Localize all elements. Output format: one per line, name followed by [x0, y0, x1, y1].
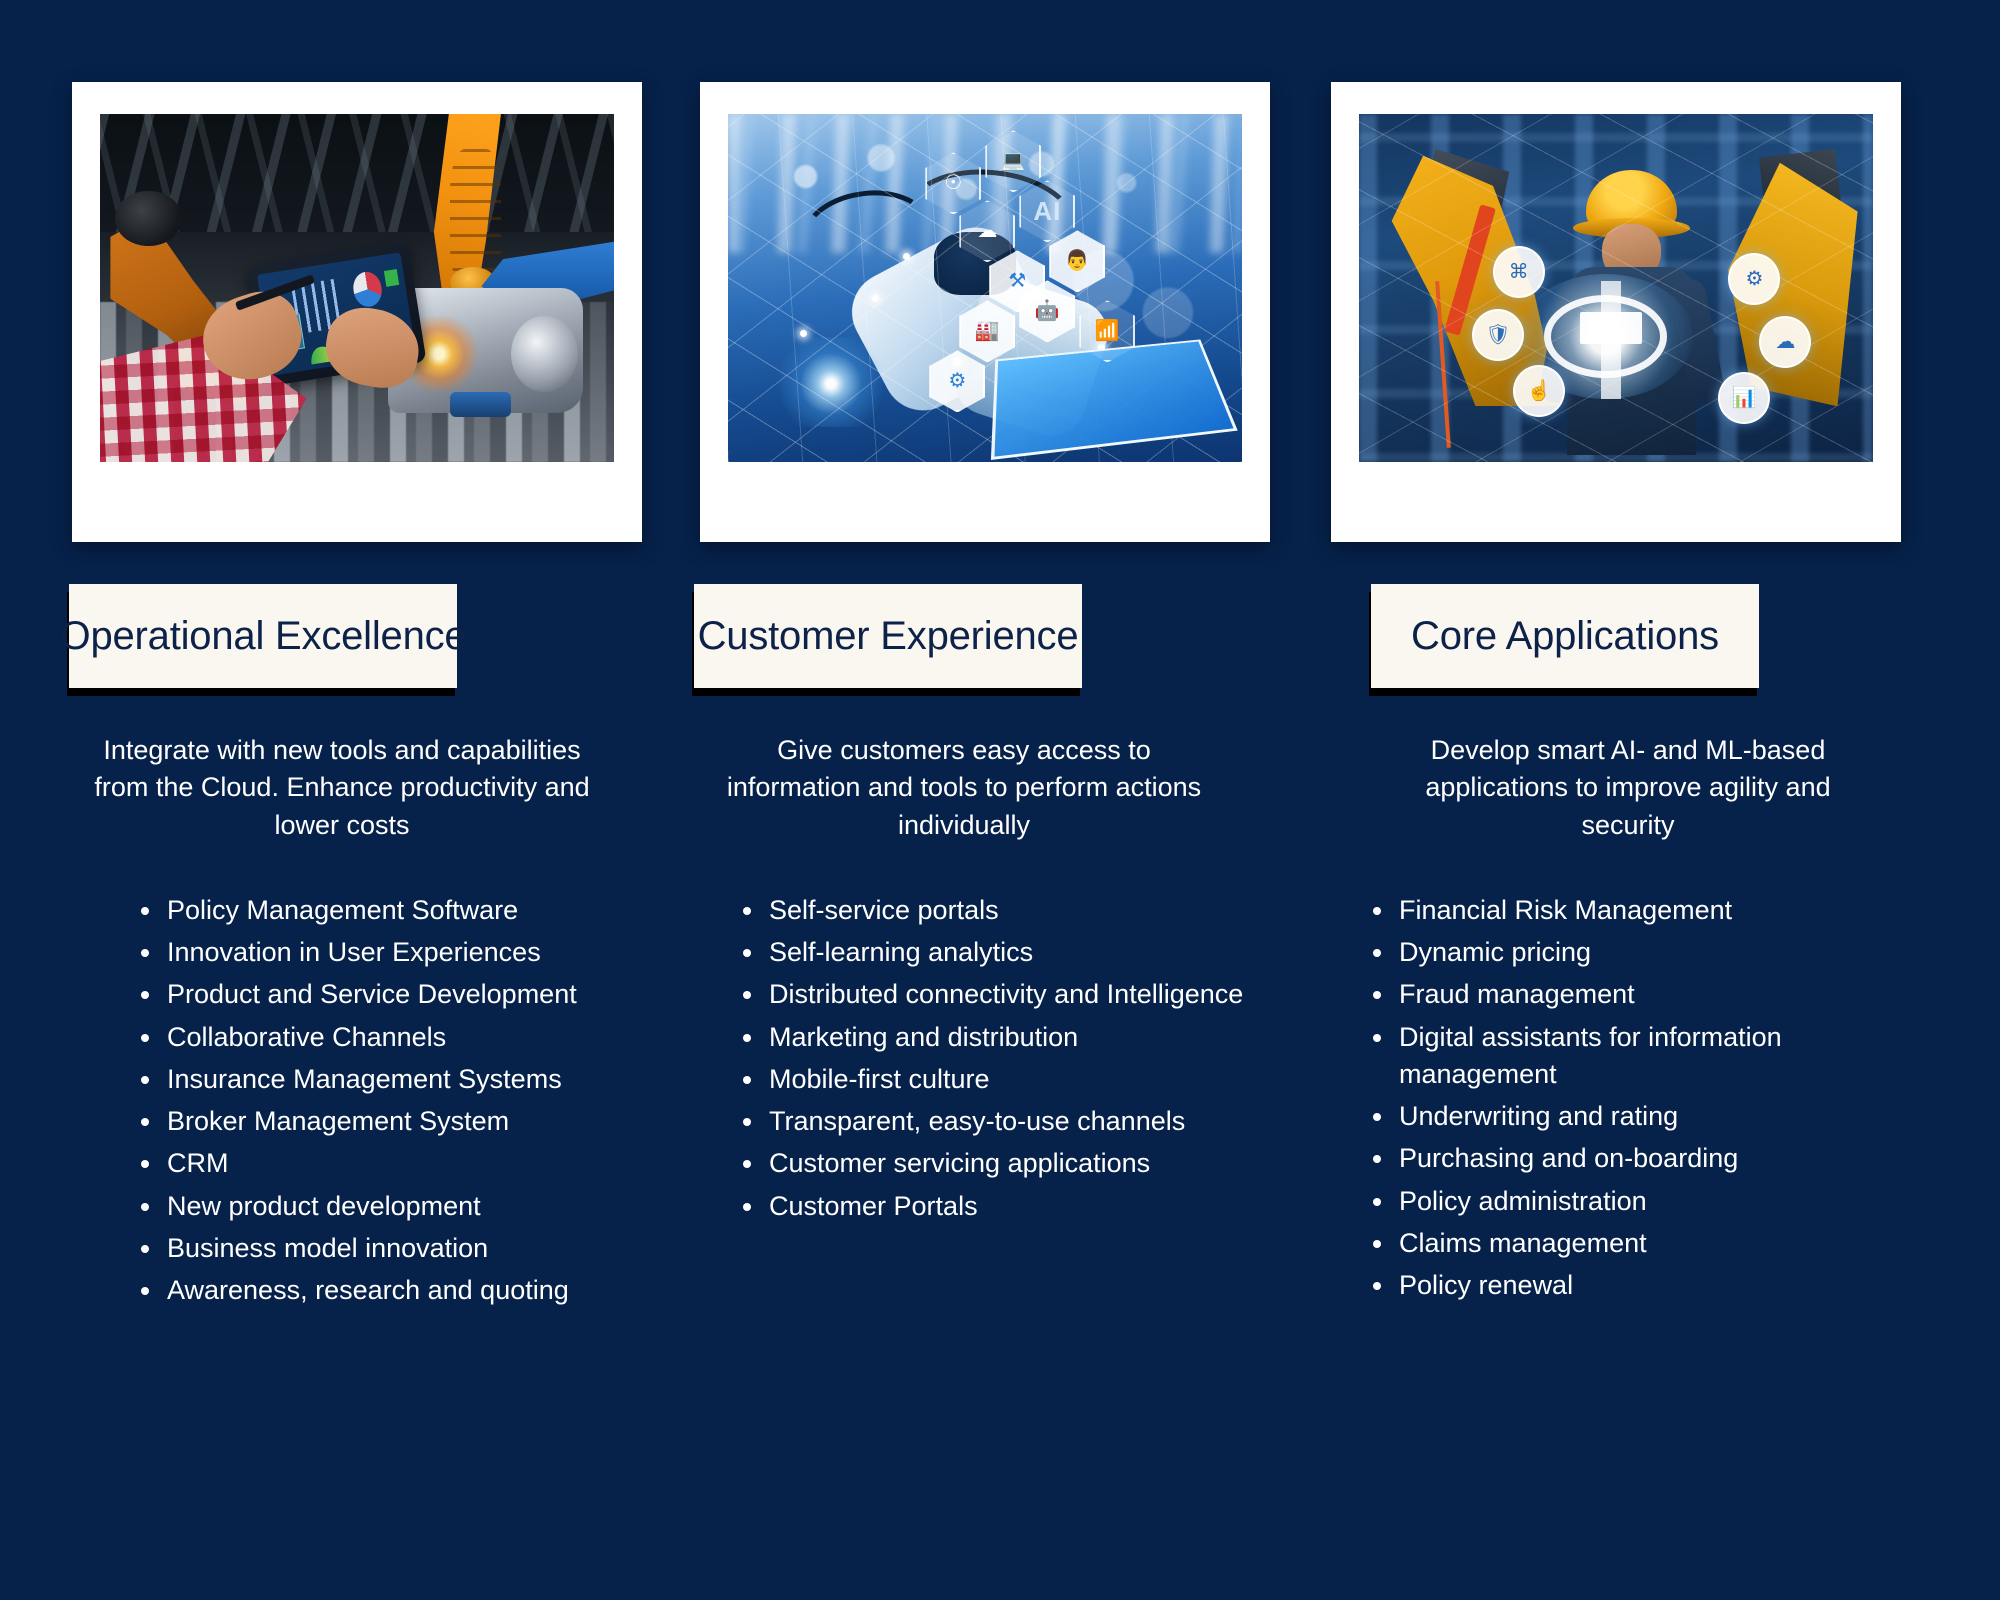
cloud-network-icon: ☁ — [959, 200, 1015, 262]
chart-icon: 📊 — [1718, 372, 1770, 424]
column-core-applications: 🛡 ☝ ⚙ ☁ 📊 ⌘ Core Applications Develop sm… — [1315, 0, 1945, 1314]
list-item: Policy Management Software — [133, 892, 653, 929]
list-item: Marketing and distribution — [735, 1019, 1245, 1056]
column-description: Develop smart AI- and ML-based applicati… — [1373, 732, 1883, 844]
wifi-icon: 📶 — [1079, 300, 1135, 362]
list-item: Purchasing and on-boarding — [1365, 1140, 1885, 1177]
worker-icon: 👨 — [1049, 230, 1105, 292]
hex-icon-cluster: ☉ 💻 ☁ AI ⚒ 👨 🏭 🤖 📶 ⚙ — [923, 124, 1231, 395]
list-item: Distributed connectivity and Intelligenc… — [735, 976, 1245, 1013]
capability-list-operational-excellence: Policy Management Software Innovation in… — [133, 892, 653, 1310]
digital-robotics-photo: ☉ 💻 ☁ AI ⚒ 👨 🏭 🤖 📶 ⚙ — [728, 114, 1242, 462]
column-description: Integrate with new tools and capabilitie… — [77, 732, 607, 844]
list-item: Customer servicing applications — [735, 1145, 1245, 1182]
photo-card-operational-excellence — [72, 82, 642, 542]
list-item: Underwriting and rating — [1365, 1098, 1885, 1135]
cloud-upload-icon: ☁ — [1759, 316, 1811, 368]
globe-network-icon: ☉ — [925, 152, 981, 214]
column-title: Operational Excellence — [60, 614, 467, 659]
list-item: Mobile-first culture — [735, 1061, 1245, 1098]
list-item: Broker Management System — [133, 1103, 653, 1140]
title-banner-core-applications: Core Applications — [1315, 584, 1945, 696]
laptop-icon — [1580, 312, 1642, 343]
list-item: Awareness, research and quoting — [133, 1272, 653, 1309]
ai-label-hex: AI — [1019, 180, 1075, 242]
list-item: Insurance Management Systems — [133, 1061, 653, 1098]
robot-head-left — [115, 191, 182, 247]
list-item: Dynamic pricing — [1365, 934, 1885, 971]
hand-touch-icon: ☝ — [1513, 365, 1565, 417]
list-item: Policy administration — [1365, 1183, 1885, 1220]
list-item: Financial Risk Management — [1365, 892, 1885, 929]
shield-icon: 🛡 — [1472, 309, 1524, 361]
list-item: Fraud management — [1365, 976, 1885, 1013]
list-item: Self-service portals — [735, 892, 1245, 929]
network-node — [872, 295, 879, 302]
network-node — [800, 330, 807, 337]
worker-hologram-photo: 🛡 ☝ ⚙ ☁ 📊 ⌘ — [1359, 114, 1873, 462]
photo-card-core-applications: 🛡 ☝ ⚙ ☁ 📊 ⌘ — [1331, 82, 1901, 542]
list-item: Self-learning analytics — [735, 934, 1245, 971]
screen-status-block — [384, 269, 399, 287]
three-column-layout: Operational Excellence Integrate with ne… — [0, 0, 2000, 1314]
column-customer-experience: ☉ 💻 ☁ AI ⚒ 👨 🏭 🤖 📶 ⚙ Cus — [685, 0, 1315, 1314]
photo-card-customer-experience: ☉ 💻 ☁ AI ⚒ 👨 🏭 🤖 📶 ⚙ — [700, 82, 1270, 542]
screen-pie-chart — [351, 270, 385, 309]
list-item: Product and Service Development — [133, 976, 653, 1013]
title-box: Core Applications — [1371, 584, 1759, 688]
capability-list-customer-experience: Self-service portals Self-learning analy… — [735, 892, 1245, 1225]
network-icon: ⌘ — [1493, 246, 1545, 298]
list-item: Transparent, easy-to-use channels — [735, 1103, 1245, 1140]
list-item: Innovation in User Experiences — [133, 934, 653, 971]
factory-tablet-photo — [100, 114, 614, 462]
list-item: New product development — [133, 1188, 653, 1225]
capability-list-core-applications: Financial Risk Management Dynamic pricin… — [1365, 892, 1885, 1305]
laptop-icon: 💻 — [985, 130, 1041, 192]
title-banner-customer-experience: Customer Experience — [685, 584, 1315, 696]
list-item: Digital assistants for information manag… — [1365, 1019, 1885, 1094]
list-item: Customer Portals — [735, 1188, 1245, 1225]
network-node — [903, 253, 910, 260]
column-title: Core Applications — [1411, 614, 1719, 659]
list-item: Policy renewal — [1365, 1267, 1885, 1304]
list-item: Claims management — [1365, 1225, 1885, 1262]
title-banner-operational-excellence: Operational Excellence — [55, 584, 685, 696]
factory-icon: 🏭 — [959, 300, 1015, 362]
list-item: CRM — [133, 1145, 653, 1182]
column-title: Customer Experience — [698, 614, 1079, 659]
title-box: Customer Experience — [694, 584, 1082, 688]
engine-turbo-housing — [511, 316, 578, 393]
list-item: Business model innovation — [133, 1230, 653, 1267]
title-box: Operational Excellence — [69, 584, 457, 688]
engine-blue-pipe — [450, 392, 512, 416]
column-operational-excellence: Operational Excellence Integrate with ne… — [55, 0, 685, 1314]
slide-canvas: Operational Excellence Integrate with ne… — [0, 0, 2000, 1600]
column-description: Give customers easy access to informatio… — [709, 732, 1219, 844]
list-item: Collaborative Channels — [133, 1019, 653, 1056]
